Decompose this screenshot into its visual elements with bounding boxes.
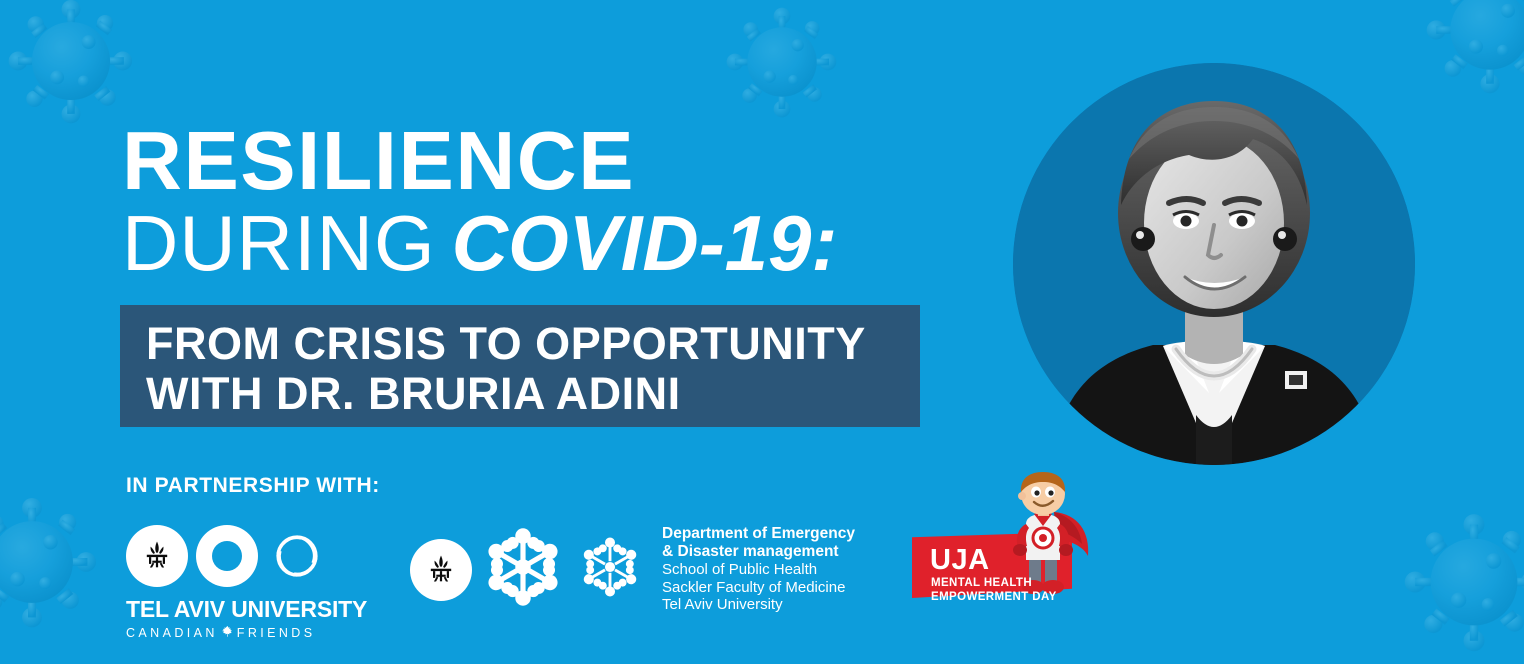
headline-word-covid: COVID-19:: [452, 199, 838, 287]
tau-ring-mark-icon: [196, 525, 258, 587]
headline-line-resilience: RESILIENCE: [122, 122, 952, 199]
uja-subtitle: MENTAL HEALTH EMPOWERMENT DAY: [931, 576, 1057, 604]
department-text-block: Department of Emergency & Disaster manag…: [662, 525, 855, 613]
uja-subtitle-line-1: MENTAL HEALTH: [931, 576, 1057, 590]
tau-spiral-mark-icon: [266, 525, 328, 587]
tau-emblem-icon: [126, 525, 188, 587]
department-line-3: School of Public Health: [662, 561, 855, 578]
maple-leaf-icon: [221, 625, 234, 641]
department-line-1: Department of Emergency: [662, 525, 855, 543]
tau-subtitle-right: FRIENDS: [237, 626, 316, 640]
uja-title: UJA: [930, 546, 990, 575]
subtitle-line-2: WITH DR. BRURIA ADINI: [146, 369, 920, 419]
department-line-5: Tel Aviv University: [662, 596, 855, 613]
coronavirus-icon: [1404, 512, 1524, 652]
tau-emblem-icon: [410, 539, 472, 601]
uja-subtitle-line-2: EMPOWERMENT DAY: [931, 590, 1057, 604]
subtitle-banner: FROM CRISIS TO OPPORTUNITY WITH DR. BRUR…: [120, 305, 920, 427]
tau-subtitle-left: CANADIAN: [126, 626, 218, 640]
headline-block: RESILIENCE DURINGCOVID-19:: [122, 122, 952, 282]
molecule-small-icon: [574, 531, 646, 608]
logo-tel-aviv-university-canadian-friends: TEL AVIV UNIVERSITY CANADIAN FRIENDS: [126, 525, 331, 641]
speaker-portrait: [1013, 63, 1415, 465]
event-promo-banner: RESILIENCE DURINGCOVID-19: FROM CRISIS T…: [0, 0, 1524, 664]
coronavirus-icon: [726, 6, 838, 118]
tau-logo-name: TEL AVIV UNIVERSITY: [126, 596, 331, 623]
logo-uja-mental-health-empowerment-day: UJA MENTAL HEALTH EMPOWERMENT DAY: [912, 470, 1092, 630]
tau-logo-marks: [126, 525, 331, 587]
tau-logo-subtitle: CANADIAN FRIENDS: [126, 625, 331, 641]
coronavirus-icon: [0, 496, 98, 628]
coronavirus-icon: [8, 0, 134, 124]
molecule-large-icon: [480, 524, 566, 615]
partnership-label: IN PARTNERSHIP WITH:: [126, 474, 380, 498]
logo-department-of-emergency-disaster-management: Department of Emergency & Disaster manag…: [410, 524, 855, 615]
coronavirus-icon: [1426, 0, 1524, 94]
speaker-portrait-illustration: [1013, 63, 1415, 465]
subtitle-line-1: FROM CRISIS TO OPPORTUNITY: [146, 319, 920, 369]
department-line-2: & Disaster management: [662, 543, 855, 561]
headline-word-during: DURING: [122, 199, 436, 287]
department-line-4: Sackler Faculty of Medicine: [662, 579, 855, 596]
headline-line-during: DURINGCOVID-19:: [122, 204, 952, 282]
